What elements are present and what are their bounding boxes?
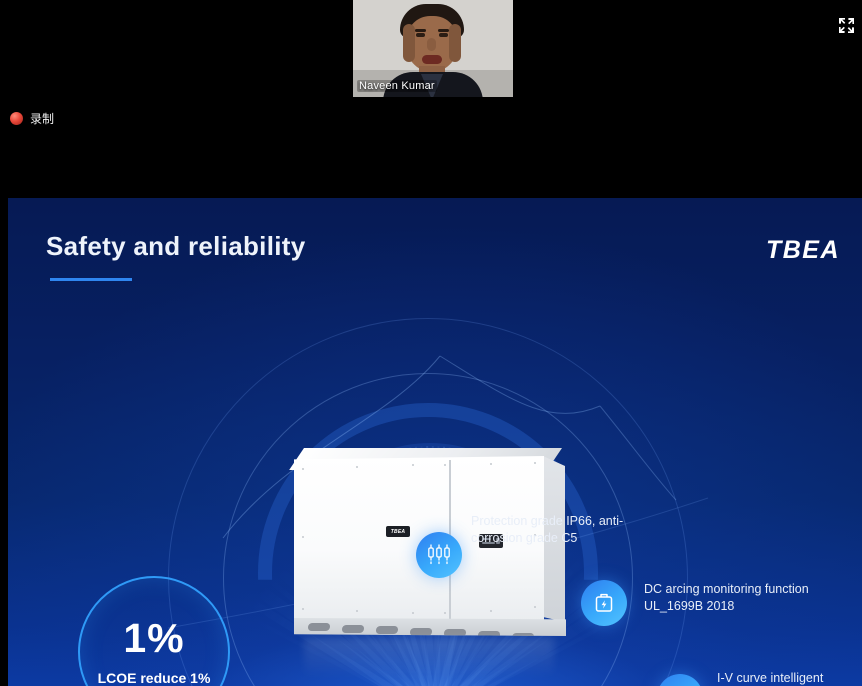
tbea-logo: TBEA (766, 236, 840, 265)
screen: Naveen Kumar 录制 (0, 0, 862, 686)
battery-bolt-icon (581, 580, 627, 626)
cabinet-vent (342, 625, 365, 633)
feature-item-dc-arcing[interactable]: DC arcing monitoring function UL_1699B 2… (581, 580, 627, 626)
participant-nose (427, 38, 436, 51)
lcoe-value: 1% (123, 618, 184, 659)
participant-brow-right (438, 29, 449, 32)
participant-video-tile[interactable]: Naveen Kumar (353, 0, 513, 97)
recording-label: 录制 (30, 113, 54, 125)
cabinet-vent (444, 629, 467, 637)
cabinet-screw (444, 464, 446, 466)
participant-name-label: Naveen Kumar (357, 80, 437, 92)
cabinet-base (294, 618, 566, 640)
cabinet-screw (444, 612, 446, 614)
feature-item-iv-curve[interactable]: I-V curve intelligent scanning, intellig… (657, 674, 703, 686)
video-conference-area: Naveen Kumar 录制 (0, 0, 862, 198)
cabinet-screw (302, 468, 304, 470)
participant-eye-right (439, 33, 448, 37)
feature-item-protection-grade[interactable]: Protection grade IP66, anti-corrosion gr… (416, 532, 462, 578)
cabinet-screw (302, 608, 304, 610)
recording-indicator[interactable]: 录制 (10, 112, 54, 125)
cabinet-screw (412, 464, 414, 466)
participant-eye-left (416, 33, 425, 37)
cabinet-screw (534, 606, 536, 608)
participant-face-shadow-left (403, 24, 415, 62)
cabinet-vent (376, 626, 399, 634)
feature-label-dc-arcing: DC arcing monitoring function UL_1699B 2… (644, 580, 809, 614)
feature-label-iv-curve: I-V curve intelligent scanning, intellig… (717, 669, 852, 686)
cabinet-screw (356, 466, 358, 468)
cabinet-screw (490, 463, 492, 465)
cabinet-screw (534, 462, 536, 464)
atom-icon (657, 674, 703, 686)
fullscreen-expand-icon[interactable] (838, 17, 855, 34)
participant-face-shadow-right (449, 24, 461, 62)
cabinet-screw (490, 610, 492, 612)
cabinet-brand-plate: TBEA (386, 526, 410, 537)
title-underline (50, 278, 132, 281)
cabinet-screw (412, 612, 414, 614)
cabinet-screw (356, 610, 358, 612)
presentation-slide[interactable]: Safety and reliability TBEA TBEA 1% LCOE… (8, 198, 862, 686)
lcoe-label: LCOE reduce 1% (98, 670, 211, 686)
cabinet-screw (302, 536, 304, 538)
cabinet-vent (410, 628, 433, 636)
recording-dot-icon (10, 112, 23, 125)
cabinet-reflection (304, 638, 554, 678)
participant-mouth (422, 55, 442, 64)
feature-label-protection-grade: Protection grade IP66, anti-corrosion gr… (471, 512, 641, 546)
cabinet-vent (308, 623, 331, 631)
fuse-terminals-icon (416, 532, 462, 578)
participant-brow-left (415, 29, 426, 32)
page-title: Safety and reliability (46, 231, 305, 262)
